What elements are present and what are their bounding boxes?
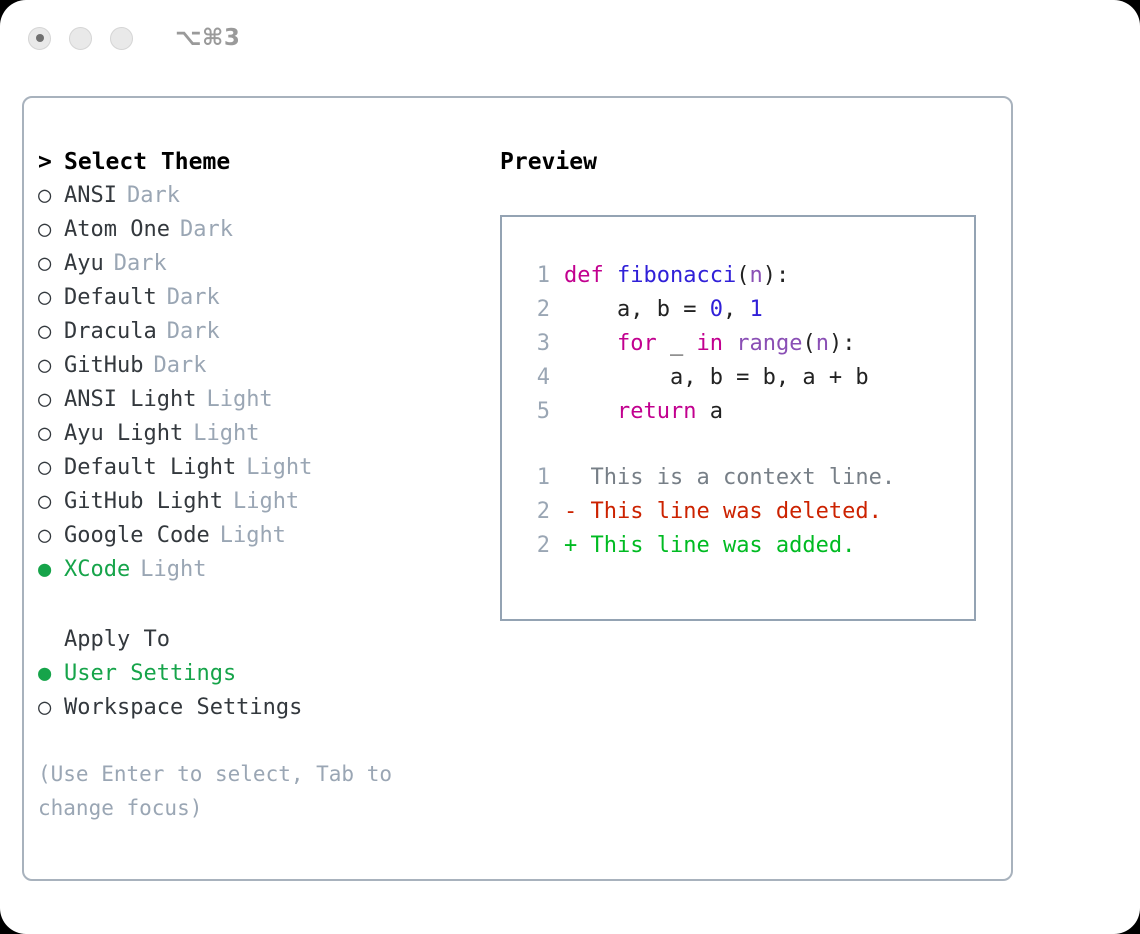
code-token-pl: ( (802, 331, 815, 356)
radio-unselected-icon[interactable]: ○ (38, 519, 64, 553)
theme-option-name: Default (64, 281, 157, 315)
code-line: 2 a, b = 0, 1 (520, 297, 974, 331)
apply-to-option-row[interactable]: ●User Settings (38, 657, 508, 691)
code-token-fn: fibonacci (617, 263, 736, 288)
diff-line-text: This line was deleted. (577, 499, 882, 524)
apply-to-option-name: Workspace Settings (64, 691, 302, 725)
main-panel: > Select Theme ○ANSIDark○Atom OneDark○Ay… (22, 96, 1013, 881)
radio-unselected-icon[interactable]: ○ (38, 179, 64, 213)
diff-line: 2- This line was deleted. (520, 499, 974, 533)
theme-option-name: GitHub (64, 349, 143, 383)
theme-option-category: Dark (167, 281, 220, 315)
code-token-num: 0 (710, 297, 723, 322)
window-dot-2[interactable] (69, 27, 92, 50)
code-token-var: range (736, 331, 802, 356)
code-token-pl: a (696, 399, 723, 424)
diff-line-text: This line was added. (577, 533, 855, 558)
theme-option-category: Dark (127, 179, 180, 213)
code-token-pl (564, 331, 617, 356)
theme-option-name: Dracula (64, 315, 157, 349)
code-token-pl: a, b = (564, 297, 710, 322)
radio-unselected-icon[interactable]: ○ (38, 281, 64, 315)
radio-unselected-icon[interactable]: ○ (38, 247, 64, 281)
theme-option-row[interactable]: ○GitHub LightLight (38, 485, 508, 519)
code-line: 5 return a (520, 399, 974, 433)
radio-selected-icon[interactable]: ● (38, 553, 64, 587)
window-dot-3[interactable] (110, 27, 133, 50)
diff-line-number: 1 (520, 465, 550, 490)
code-token-pl (564, 399, 617, 424)
diff-line-number: 2 (520, 499, 550, 524)
theme-option-category: Light (140, 553, 206, 587)
theme-option-category: Dark (114, 247, 167, 281)
radio-unselected-icon[interactable]: ○ (38, 315, 64, 349)
radio-unselected-icon[interactable]: ○ (38, 691, 64, 725)
theme-option-category: Light (193, 417, 259, 451)
theme-option-name: Google Code (64, 519, 210, 553)
theme-option-name: ANSI Light (64, 383, 196, 417)
theme-selector-column: > Select Theme ○ANSIDark○Atom OneDark○Ay… (38, 145, 508, 825)
apply-to-option-name: User Settings (64, 657, 236, 691)
code-token-pl: ): (829, 331, 856, 356)
theme-option-row[interactable]: ○DefaultDark (38, 281, 508, 315)
theme-option-name: Ayu (64, 247, 104, 281)
code-token-pl: a, b = b, a + b (564, 365, 869, 390)
diff-sample: 1 This is a context line.2- This line wa… (520, 465, 974, 567)
theme-option-category: Light (233, 485, 299, 519)
theme-option-row[interactable]: ○Atom OneDark (38, 213, 508, 247)
diff-sign-ctx (564, 465, 577, 490)
code-diff-spacer (520, 433, 974, 465)
select-theme-heading-row: > Select Theme (38, 145, 508, 179)
diff-sign-del: - (564, 499, 577, 524)
theme-option-row[interactable]: ○DraculaDark (38, 315, 508, 349)
code-preview-box: 1def fibonacci(n):2 a, b = 0, 13 for _ i… (500, 215, 976, 621)
code-token-pl: ( (736, 263, 749, 288)
app-window: ⌥⌘3 > Select Theme ○ANSIDark○Atom OneDar… (0, 0, 1140, 934)
code-token-kw: return (617, 399, 696, 424)
theme-option-name: Default Light (64, 451, 236, 485)
theme-option-category: Dark (167, 315, 220, 349)
preview-column: Preview 1def fibonacci(n):2 a, b = 0, 13… (500, 145, 1000, 621)
theme-option-category: Light (206, 383, 272, 417)
code-line-text: a, b = b, a + b (564, 365, 869, 390)
code-line-text: return a (564, 399, 723, 424)
theme-option-row[interactable]: ●XCodeLight (38, 553, 508, 587)
code-token-var: n (749, 263, 762, 288)
radio-unselected-icon[interactable]: ○ (38, 417, 64, 451)
theme-option-row[interactable]: ○Google CodeLight (38, 519, 508, 553)
code-line-text: def fibonacci(n): (564, 263, 789, 288)
section-spacer (38, 587, 508, 623)
code-sample: 1def fibonacci(n):2 a, b = 0, 13 for _ i… (520, 263, 974, 433)
apply-to-marker-spacer: ○ (38, 623, 64, 657)
apply-to-label: Apply To (64, 623, 170, 657)
apply-to-option-row[interactable]: ○Workspace Settings (38, 691, 508, 725)
apply-to-list: ●User Settings○Workspace Settings (38, 657, 508, 725)
code-token-pl: , (723, 297, 750, 322)
diff-line-text: This is a context line. (577, 465, 895, 490)
code-line-number: 5 (520, 399, 550, 424)
apply-to-heading-row: ○ Apply To (38, 623, 508, 657)
theme-option-row[interactable]: ○Ayu LightLight (38, 417, 508, 451)
theme-option-name: GitHub Light (64, 485, 223, 519)
code-line-text: for _ in range(n): (564, 331, 855, 356)
code-line-number: 2 (520, 297, 550, 322)
page-title: Select Theme (64, 145, 230, 179)
radio-unselected-icon[interactable]: ○ (38, 485, 64, 519)
code-token-kw: def (564, 263, 617, 288)
code-line: 4 a, b = b, a + b (520, 365, 974, 399)
keyboard-shortcut-label: ⌥⌘3 (175, 25, 240, 51)
title-bar: ⌥⌘3 (0, 0, 1140, 76)
diff-sign-add: + (564, 533, 577, 558)
code-token-num: 1 (749, 297, 762, 322)
window-dot-active[interactable] (28, 27, 51, 50)
radio-unselected-icon[interactable]: ○ (38, 349, 64, 383)
theme-option-category: Light (246, 451, 312, 485)
code-line-text: a, b = 0, 1 (564, 297, 763, 322)
radio-unselected-icon[interactable]: ○ (38, 383, 64, 417)
code-token-kw: in (696, 331, 723, 356)
window-controls (28, 27, 133, 50)
radio-selected-icon[interactable]: ● (38, 657, 64, 691)
code-line: 1def fibonacci(n): (520, 263, 974, 297)
diff-line: 1 This is a context line. (520, 465, 974, 499)
theme-option-name: XCode (64, 553, 130, 587)
theme-option-row[interactable]: ○ANSI LightLight (38, 383, 508, 417)
theme-option-name: Ayu Light (64, 417, 183, 451)
code-line: 3 for _ in range(n): (520, 331, 974, 365)
code-line-number: 1 (520, 263, 550, 288)
prompt-caret-icon: > (38, 145, 64, 179)
code-token-var: n (816, 331, 829, 356)
theme-option-row[interactable]: ○Default LightLight (38, 451, 508, 485)
radio-unselected-icon[interactable]: ○ (38, 213, 64, 247)
code-token-pl: ): (763, 263, 790, 288)
theme-option-name: ANSI (64, 179, 117, 213)
diff-line: 2+ This line was added. (520, 533, 974, 567)
theme-list: ○ANSIDark○Atom OneDark○AyuDark○DefaultDa… (38, 179, 508, 587)
theme-option-row[interactable]: ○GitHubDark (38, 349, 508, 383)
preview-title: Preview (500, 145, 1000, 179)
code-line-number: 4 (520, 365, 550, 390)
theme-option-row[interactable]: ○AyuDark (38, 247, 508, 281)
code-line-number: 3 (520, 331, 550, 356)
active-indicator-dot (36, 34, 44, 42)
keyboard-hint-text: (Use Enter to select, Tab to change focu… (38, 757, 438, 825)
theme-option-name: Atom One (64, 213, 170, 247)
code-token-kw: for (617, 331, 657, 356)
diff-line-number: 2 (520, 533, 550, 558)
code-token-pl (723, 331, 736, 356)
code-token-pl: _ (657, 331, 697, 356)
radio-unselected-icon[interactable]: ○ (38, 451, 64, 485)
theme-option-category: Light (220, 519, 286, 553)
theme-option-row[interactable]: ○ANSIDark (38, 179, 508, 213)
theme-option-category: Dark (153, 349, 206, 383)
theme-option-category: Dark (180, 213, 233, 247)
